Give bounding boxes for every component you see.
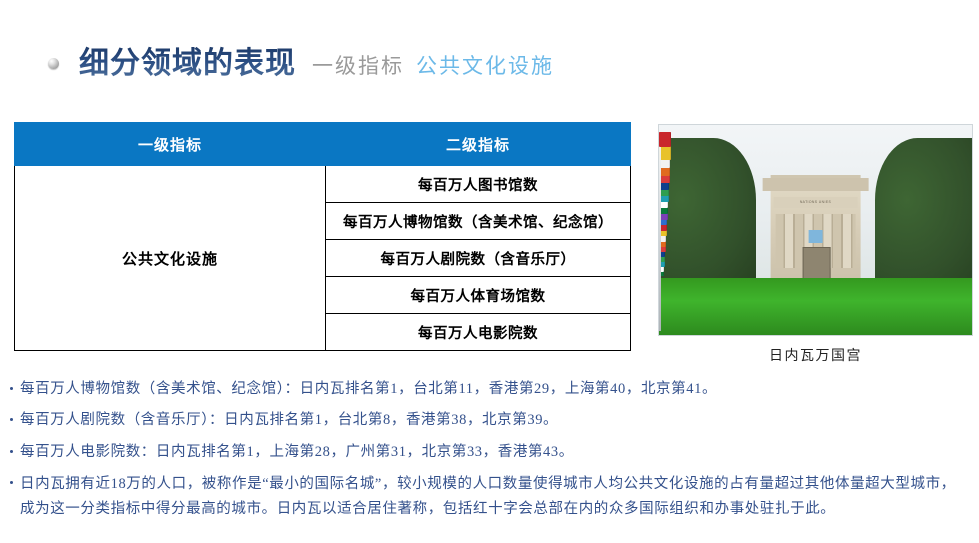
page-subtitle-value: 公共文化设施 <box>416 50 554 80</box>
table-header-row: 一级指标 二级指标 <box>15 123 631 166</box>
photo-building-cornice <box>763 178 868 191</box>
photo-caption: 日内瓦万国宫 <box>658 345 973 365</box>
list-item: 每百万人博物馆数（含美术馆、纪念馆）：日内瓦排名第1，台北第11，香港第29，上… <box>10 378 965 401</box>
page-title-row: 细分领域的表现 一级指标 公共文化设施 <box>0 38 554 82</box>
table-cell-indicator: 每百万人图书馆数 <box>326 166 631 203</box>
note-text: 每百万人剧院数（含音乐厅）：日内瓦排名第1，台北第8，香港第38，北京第39。 <box>20 409 965 432</box>
page-title: 细分领域的表现 <box>79 38 296 82</box>
bullet-dot-icon <box>10 481 13 484</box>
note-text: 每百万人博物馆数（含美术馆、纪念馆）：日内瓦排名第1，台北第11，香港第29，上… <box>20 378 965 401</box>
table-cell-indicator: 每百万人剧院数（含音乐厅） <box>326 240 631 277</box>
photo-grass <box>659 278 972 335</box>
table-cell-indicator: 每百万人电影院数 <box>326 314 631 351</box>
table-cell-indicator: 每百万人博物馆数（含美术馆、纪念馆） <box>326 203 631 240</box>
list-item: 每百万人电影院数：日内瓦排名第1，上海第28，广州第31，北京第33，香港第43… <box>10 441 965 464</box>
page-subtitle-label: 一级指标 <box>312 50 404 80</box>
table-header-primary: 一级指标 <box>15 123 326 166</box>
note-text: 日内瓦拥有近18万的人口，被称作是“最小的国际名城”，较小规模的人口数量使得城市… <box>20 472 965 522</box>
table-row: 公共文化设施 每百万人图书馆数 <box>15 166 631 203</box>
table-header-secondary: 二级指标 <box>326 123 631 166</box>
photo-trees-left <box>658 138 756 293</box>
bullet-dot-icon <box>10 418 13 421</box>
photo-building-banner <box>808 230 823 243</box>
notes-list: 每百万人博物馆数（含美术馆、纪念馆）：日内瓦排名第1，台北第11，香港第29，上… <box>10 378 965 530</box>
bullet-dot-icon <box>10 387 13 390</box>
palace-of-nations-geneva-flags-image: NATIONS UNIES <box>658 124 973 336</box>
sphere-bullet-icon <box>48 58 59 69</box>
list-item: 日内瓦拥有近18万的人口，被称作是“最小的国际名城”，较小规模的人口数量使得城市… <box>10 472 965 522</box>
photo-block: NATIONS UNIES 日内瓦万国宫 <box>658 124 973 365</box>
list-item: 每百万人剧院数（含音乐厅）：日内瓦排名第1，台北第8，香港第38，北京第39。 <box>10 409 965 432</box>
note-text: 每百万人电影院数：日内瓦排名第1，上海第28，广州第31，北京第33，香港第43… <box>20 441 965 464</box>
table-cell-category: 公共文化设施 <box>15 166 326 351</box>
photo-trees-right <box>875 138 973 293</box>
bullet-dot-icon <box>10 450 13 453</box>
indicator-table: 一级指标 二级指标 公共文化设施 每百万人图书馆数 每百万人博物馆数（含美术馆、… <box>14 122 631 351</box>
table-cell-indicator: 每百万人体育场馆数 <box>326 277 631 314</box>
photo-building-frieze: NATIONS UNIES <box>774 197 858 208</box>
